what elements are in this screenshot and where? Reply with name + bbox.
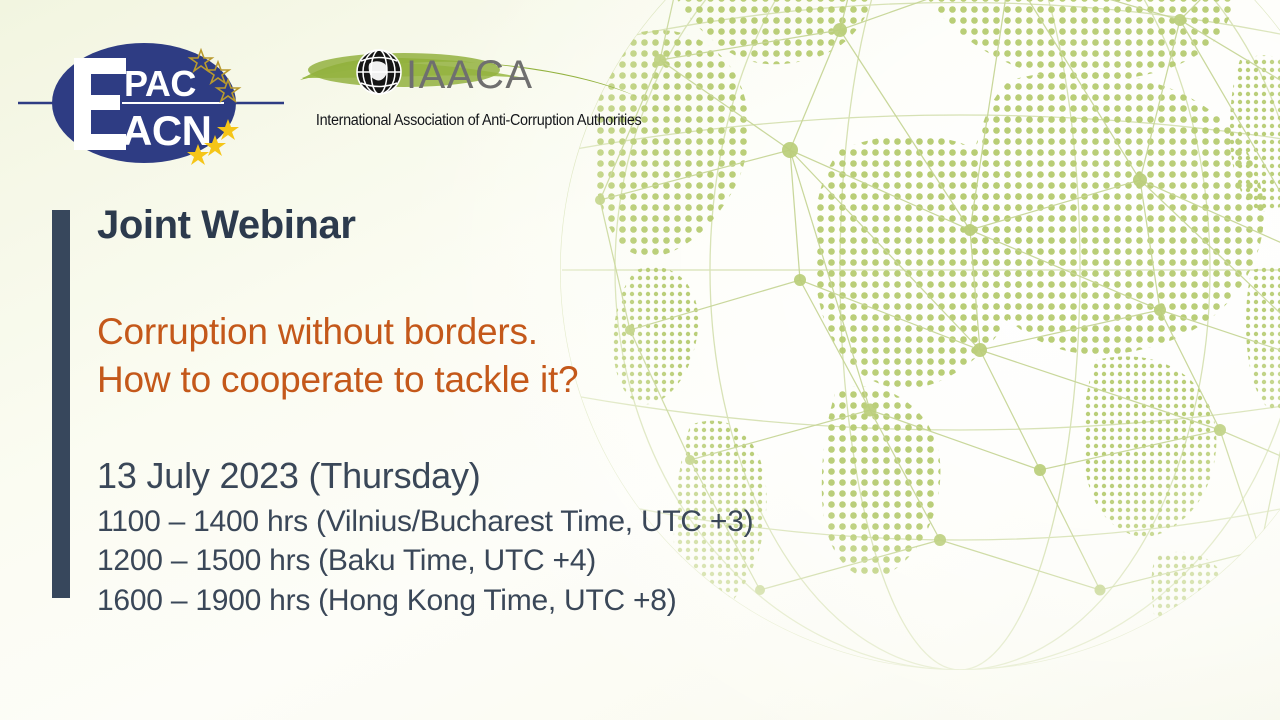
schedule-block: 13 July 2023 (Thursday) 1100 – 1400 hrs …: [97, 455, 897, 620]
topic-line-1: Corruption without borders.: [97, 308, 897, 355]
schedule-times: 1100 – 1400 hrs (Vilnius/Bucharest Time,…: [97, 502, 897, 621]
iaaca-logo: IAACA International Association of Anti-…: [298, 46, 643, 138]
accent-bar: [52, 210, 70, 598]
time-line-1: 1100 – 1400 hrs (Vilnius/Bucharest Time,…: [97, 502, 897, 542]
page-title: Joint Webinar: [97, 204, 897, 246]
time-line-3: 1600 – 1900 hrs (Hong Kong Time, UTC +8): [97, 581, 897, 621]
svg-text:PAC: PAC: [124, 63, 196, 104]
iaaca-tagline: International Association of Anti-Corrup…: [316, 112, 632, 130]
schedule-date: 13 July 2023 (Thursday): [97, 455, 897, 497]
topic-subtitle: Corruption without borders. How to coope…: [97, 308, 897, 403]
webinar-slide: PAC ACN: [0, 0, 1280, 720]
slide-text-block: Joint Webinar Corruption without borders…: [97, 204, 897, 620]
iaaca-wordmark-mark: IAACA: [298, 46, 643, 110]
time-line-2: 1200 – 1500 hrs (Baku Time, UTC +4): [97, 541, 897, 581]
topic-line-2: How to cooperate to tackle it?: [97, 356, 897, 403]
epac-eacn-logo: PAC ACN: [16, 25, 286, 175]
svg-text:IAACA: IAACA: [406, 53, 534, 97]
